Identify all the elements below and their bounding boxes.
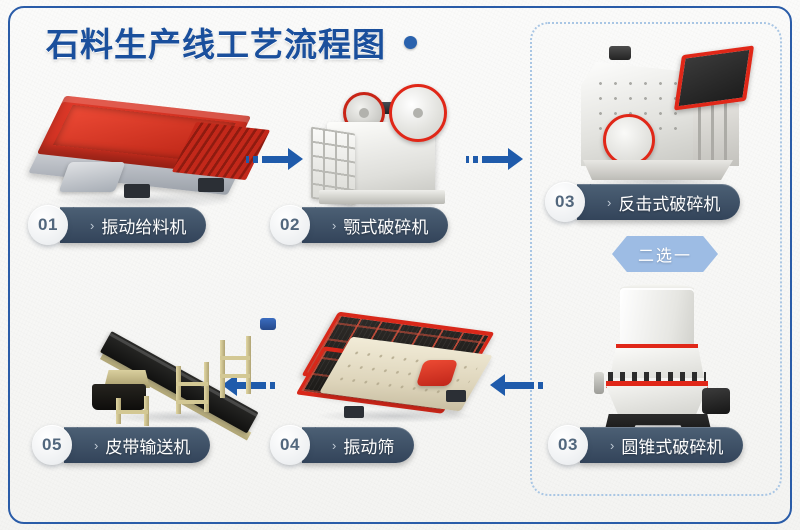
screen-foot-left <box>344 406 364 418</box>
cone-crusher-icon <box>580 288 740 428</box>
conveyor-drive-motor <box>260 318 276 330</box>
screen-shadow <box>315 409 475 423</box>
step-number-badge: 04 <box>270 425 310 465</box>
chevron-right-icon: › <box>94 438 98 453</box>
arrow-line <box>505 382 531 389</box>
page-title-wrap: 石料生产线工艺流程图 <box>46 18 417 66</box>
arrow-dash-tail <box>246 156 262 163</box>
conveyor-leg-4 <box>204 362 209 412</box>
step-number-badge: 03 <box>545 182 585 222</box>
title-dot-icon <box>404 36 417 49</box>
arrow-jaw-to-crusher <box>466 147 523 171</box>
chevron-right-icon: › <box>610 438 614 453</box>
feeder-foot-left <box>124 184 150 198</box>
arrow-dash-tail <box>466 156 482 163</box>
flow-diagram-page: 石料生产线工艺流程图 二选一 <box>0 0 800 530</box>
step-number-badge: 03 <box>548 425 588 465</box>
jaw-flywheel-front <box>389 84 447 142</box>
jaw-base <box>319 190 445 204</box>
cone-hopper <box>620 288 694 346</box>
step-label-05[interactable]: 05 › 皮带输送机 <box>32 425 210 465</box>
cone-drive-housing <box>702 388 730 414</box>
conveyor-leg-bar-2 <box>176 382 208 386</box>
step-pill[interactable]: › 振动筛 <box>302 427 414 463</box>
arrow-head <box>508 148 523 170</box>
screen-foot-right <box>446 390 466 402</box>
feeder-motor <box>59 162 126 192</box>
chevron-right-icon: › <box>332 438 336 453</box>
cone-gauge <box>594 372 604 394</box>
conveyor-leg-3 <box>176 366 181 414</box>
impact-base <box>583 160 733 180</box>
conveyor-leg-bar-3 <box>176 400 208 404</box>
step-label-03-impact[interactable]: 03 › 反击式破碎机 <box>545 182 740 222</box>
step-label-text: 皮带输送机 <box>105 433 190 458</box>
step-label-text: 振动给料机 <box>101 213 186 238</box>
step-label-01[interactable]: 01 › 振动给料机 <box>28 205 206 245</box>
conveyor-leg-bar-5 <box>220 374 250 378</box>
conveyor-leg-bar-4 <box>220 356 250 360</box>
step-label-text: 颚式破碎机 <box>343 213 428 238</box>
step-label-text: 反击式破碎机 <box>618 190 720 215</box>
chevron-right-icon: › <box>332 218 336 233</box>
step-pill[interactable]: › 振动给料机 <box>60 207 206 243</box>
arrow-crusher-to-screen <box>490 373 547 397</box>
arrow-line <box>482 156 508 163</box>
step-label-02[interactable]: 02 › 颚式破碎机 <box>270 205 448 245</box>
step-number-badge: 02 <box>270 205 310 245</box>
step-pill[interactable]: › 颚式破碎机 <box>302 207 448 243</box>
feeder-foot-right <box>198 178 224 192</box>
arrow-feeder-to-jaw <box>246 147 303 171</box>
conveyor-leg-5 <box>220 340 225 398</box>
chevron-right-icon: › <box>90 218 94 233</box>
arrow-head <box>490 374 505 396</box>
page-title: 石料生产线工艺流程图 <box>46 18 386 66</box>
impact-motor-box <box>609 46 631 60</box>
arrow-head <box>288 148 303 170</box>
vibrating-screen-icon <box>300 320 490 425</box>
arrow-line <box>262 156 288 163</box>
conveyor-leg-6 <box>246 336 251 394</box>
step-number-badge: 01 <box>28 205 68 245</box>
choose-one-badge: 二选一 <box>612 236 718 272</box>
step-label-text: 振动筛 <box>343 433 394 458</box>
vibrating-feeder-icon <box>28 100 256 205</box>
impact-flywheel <box>603 114 655 166</box>
step-pill[interactable]: › 圆锥式破碎机 <box>580 427 743 463</box>
jaw-crusher-icon <box>305 78 455 208</box>
chevron-right-icon: › <box>607 195 611 210</box>
step-label-04[interactable]: 04 › 振动筛 <box>270 425 414 465</box>
step-number-badge: 05 <box>32 425 72 465</box>
step-label-03-cone[interactable]: 03 › 圆锥式破碎机 <box>548 425 743 465</box>
impact-feed-hopper <box>674 45 754 110</box>
step-pill[interactable]: › 皮带输送机 <box>64 427 210 463</box>
belt-conveyor-icon <box>92 310 272 430</box>
impact-crusher-icon <box>575 44 745 194</box>
conveyor-leg-bar-1 <box>116 410 148 414</box>
step-label-text: 圆锥式破碎机 <box>621 433 723 458</box>
arrow-dash-tail <box>531 382 547 389</box>
step-pill[interactable]: › 反击式破碎机 <box>577 184 740 220</box>
